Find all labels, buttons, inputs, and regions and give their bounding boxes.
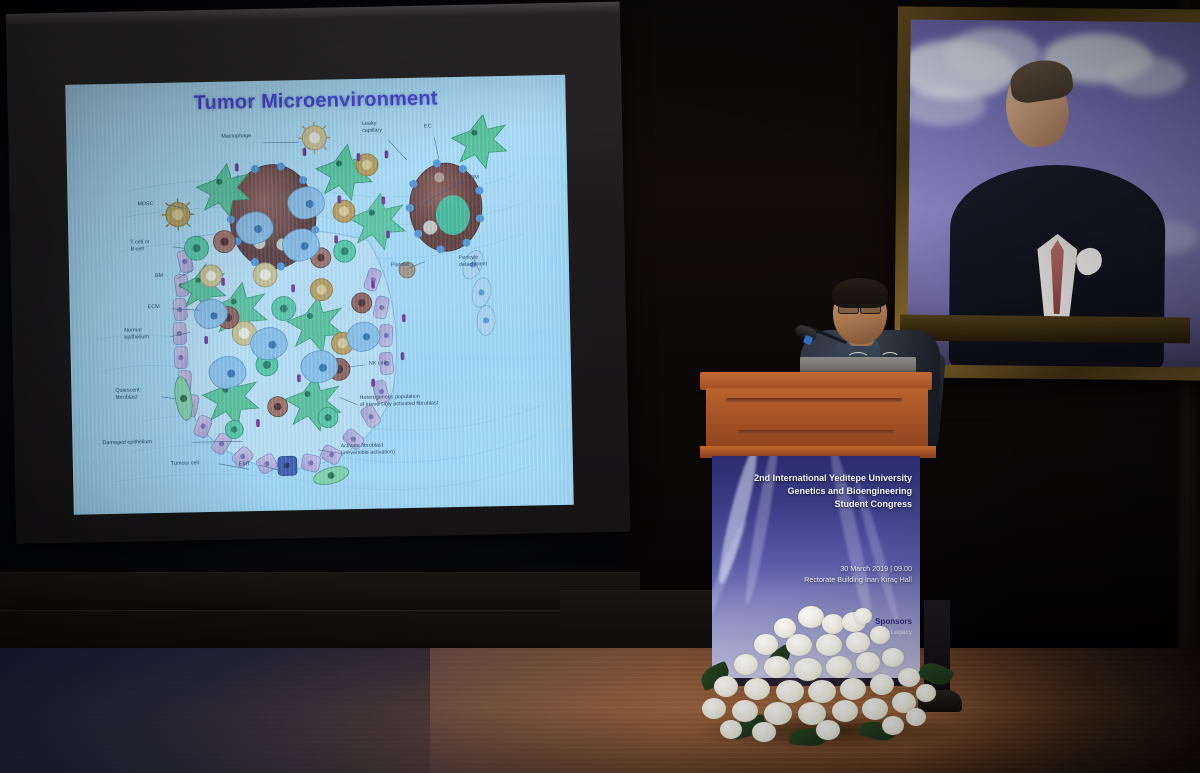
cloud-shape — [1106, 55, 1186, 96]
flower — [906, 708, 926, 726]
flower — [822, 614, 844, 634]
flower — [816, 720, 840, 740]
slide-label-leaky-capillary: Leaky capillary — [362, 120, 382, 134]
slide-label-quiescent-fibroblast: Quiescent fibroblast — [115, 387, 140, 401]
flower — [882, 648, 904, 667]
flower — [826, 656, 852, 678]
laptop-cable — [846, 352, 870, 368]
podium-groove — [726, 398, 902, 402]
podium-front-panel — [706, 388, 928, 450]
stage-riser-upper — [0, 572, 640, 615]
flower — [732, 700, 758, 722]
slide-label-emt: EMT — [239, 461, 251, 468]
slide-label-vbm: VBM — [467, 175, 479, 182]
slide-label-damaged-epithelium: Damaged epithelium — [102, 439, 152, 447]
podium-groove — [738, 430, 894, 434]
flower — [764, 656, 790, 678]
slide-label-mdsc: MDSC — [138, 201, 154, 208]
slide-title: Tumor Microenvironment — [65, 85, 565, 118]
flower — [786, 634, 812, 656]
slide-label-ecm: ECM — [148, 304, 160, 311]
flower — [856, 652, 880, 673]
banner-title-line1: 2nd International Yeditepe University — [720, 472, 912, 485]
flower — [882, 716, 904, 735]
slide-label-macrophage: Macrophage — [221, 133, 251, 140]
slide-label-tumour-cell: Tumour cell — [171, 460, 199, 467]
slide-label-bm: BM — [155, 273, 163, 280]
projection-screen: Tumor Microenvironment — [6, 12, 630, 544]
slide-label-nk-cell: NK cell — [369, 360, 386, 367]
speaker-glasses-right — [860, 304, 881, 314]
flower — [840, 678, 866, 700]
slide-label-normal-epithelium: Normal epithelium — [124, 327, 149, 341]
flower — [854, 608, 872, 624]
slide-label-heterogenous-population: Heterogenous population of irreversibly … — [360, 393, 439, 408]
banner-title-line3: Student Congress — [720, 498, 912, 511]
slide-label-activate-fibroblast: Activate fibroblast (irreversible activa… — [340, 442, 394, 457]
flower — [898, 668, 920, 687]
flower-arrangement — [694, 604, 964, 744]
presentation-slide: Tumor Microenvironment — [65, 75, 574, 515]
flower — [744, 678, 770, 700]
flower — [714, 676, 738, 697]
flower — [754, 634, 778, 655]
floor-blue-cast — [0, 648, 430, 773]
tumor-microenvironment-diagram: Macrophage Leaky capillary EC VBM MDSC T… — [66, 113, 574, 515]
banner-date-time: 30 March 2019 | 09.00 — [720, 564, 912, 575]
cloud-shape — [907, 85, 986, 126]
banner-title: 2nd International Yeditepe University Ge… — [720, 472, 912, 511]
flower — [846, 632, 870, 653]
slide-label-platelet: Platelet — [391, 262, 409, 269]
slide-label-pericyte-detachment: Pericyte detachment — [459, 254, 487, 268]
banner-location: Rectorate Building İnan Kıraç Hall — [720, 575, 912, 586]
flower — [764, 702, 792, 725]
slide-label-t-or-b-cell: T cell or B cell — [130, 239, 149, 253]
banner-title-line2: Genetics and Bioengineering — [720, 485, 912, 498]
flower — [798, 606, 824, 628]
diagram-svg — [66, 113, 574, 515]
flower — [734, 654, 758, 675]
flower — [832, 700, 858, 722]
speaker-glasses-left — [838, 304, 859, 314]
flower — [752, 722, 776, 742]
conference-photo-scene: Tumor Microenvironment — [0, 0, 1200, 773]
flower — [862, 698, 888, 720]
banner-meta: 30 March 2019 | 09.00 Rectorate Building… — [720, 564, 912, 586]
flower — [776, 680, 804, 703]
laptop-cable — [880, 352, 900, 366]
slide-label-ec: EC — [424, 123, 432, 130]
flower — [816, 634, 842, 656]
flower — [870, 674, 894, 695]
flower — [702, 698, 726, 719]
flower — [808, 680, 836, 703]
flower — [916, 684, 936, 702]
flower — [720, 720, 742, 739]
flower — [794, 658, 822, 681]
portrait-frame-ledge — [900, 314, 1190, 343]
flower — [870, 626, 890, 644]
